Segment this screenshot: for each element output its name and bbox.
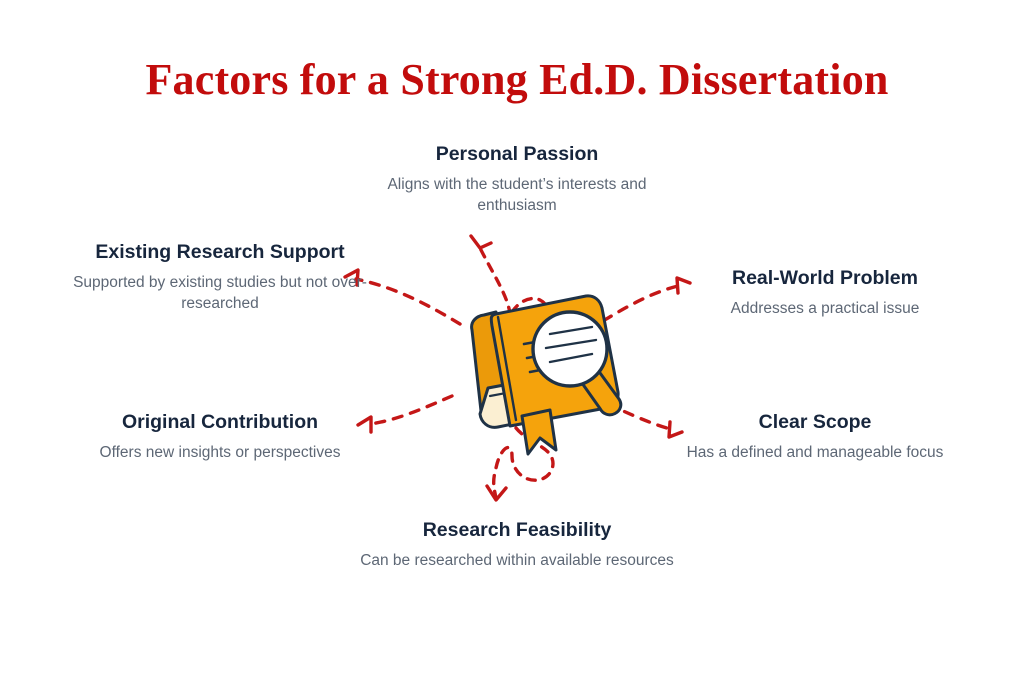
factor-description-original-contribution: Offers new insights or perspectives xyxy=(52,442,388,463)
factor-heading-original-contribution: Original Contribution xyxy=(52,410,388,435)
factor-node-clear-scope: Clear Scope Has a defined and manageable… xyxy=(668,410,962,463)
factor-heading-research-feasibility: Research Feasibility xyxy=(357,518,677,543)
factor-node-real-world-problem: Real-World Problem Addresses a practical… xyxy=(664,266,986,319)
factor-heading-real-world-problem: Real-World Problem xyxy=(664,266,986,291)
infographic-canvas: Factors for a Strong Ed.D. Dissertation xyxy=(0,0,1034,676)
factor-description-real-world-problem: Addresses a practical issue xyxy=(664,298,986,319)
factor-node-existing-research-support: Existing Research Support Supported by e… xyxy=(60,240,380,315)
factor-heading-personal-passion: Personal Passion xyxy=(357,142,677,167)
factor-description-existing-research-support: Supported by existing studies but not ov… xyxy=(60,272,380,315)
curly-arrow-down xyxy=(487,428,553,500)
factor-node-personal-passion: Personal Passion Aligns with the student… xyxy=(357,142,677,217)
page-title: Factors for a Strong Ed.D. Dissertation xyxy=(0,56,1034,104)
factor-node-research-feasibility: Research Feasibility Can be researched w… xyxy=(357,518,677,571)
factor-node-original-contribution: Original Contribution Offers new insight… xyxy=(52,410,388,463)
book-with-magnifier-illustration xyxy=(472,296,622,454)
factor-heading-existing-research-support: Existing Research Support xyxy=(60,240,380,265)
factor-description-research-feasibility: Can be researched within available resou… xyxy=(357,550,677,571)
factor-description-clear-scope: Has a defined and manageable focus xyxy=(668,442,962,463)
curly-arrow-up xyxy=(471,236,549,335)
factor-heading-clear-scope: Clear Scope xyxy=(668,410,962,435)
factor-description-personal-passion: Aligns with the student’s interests and … xyxy=(357,174,677,217)
